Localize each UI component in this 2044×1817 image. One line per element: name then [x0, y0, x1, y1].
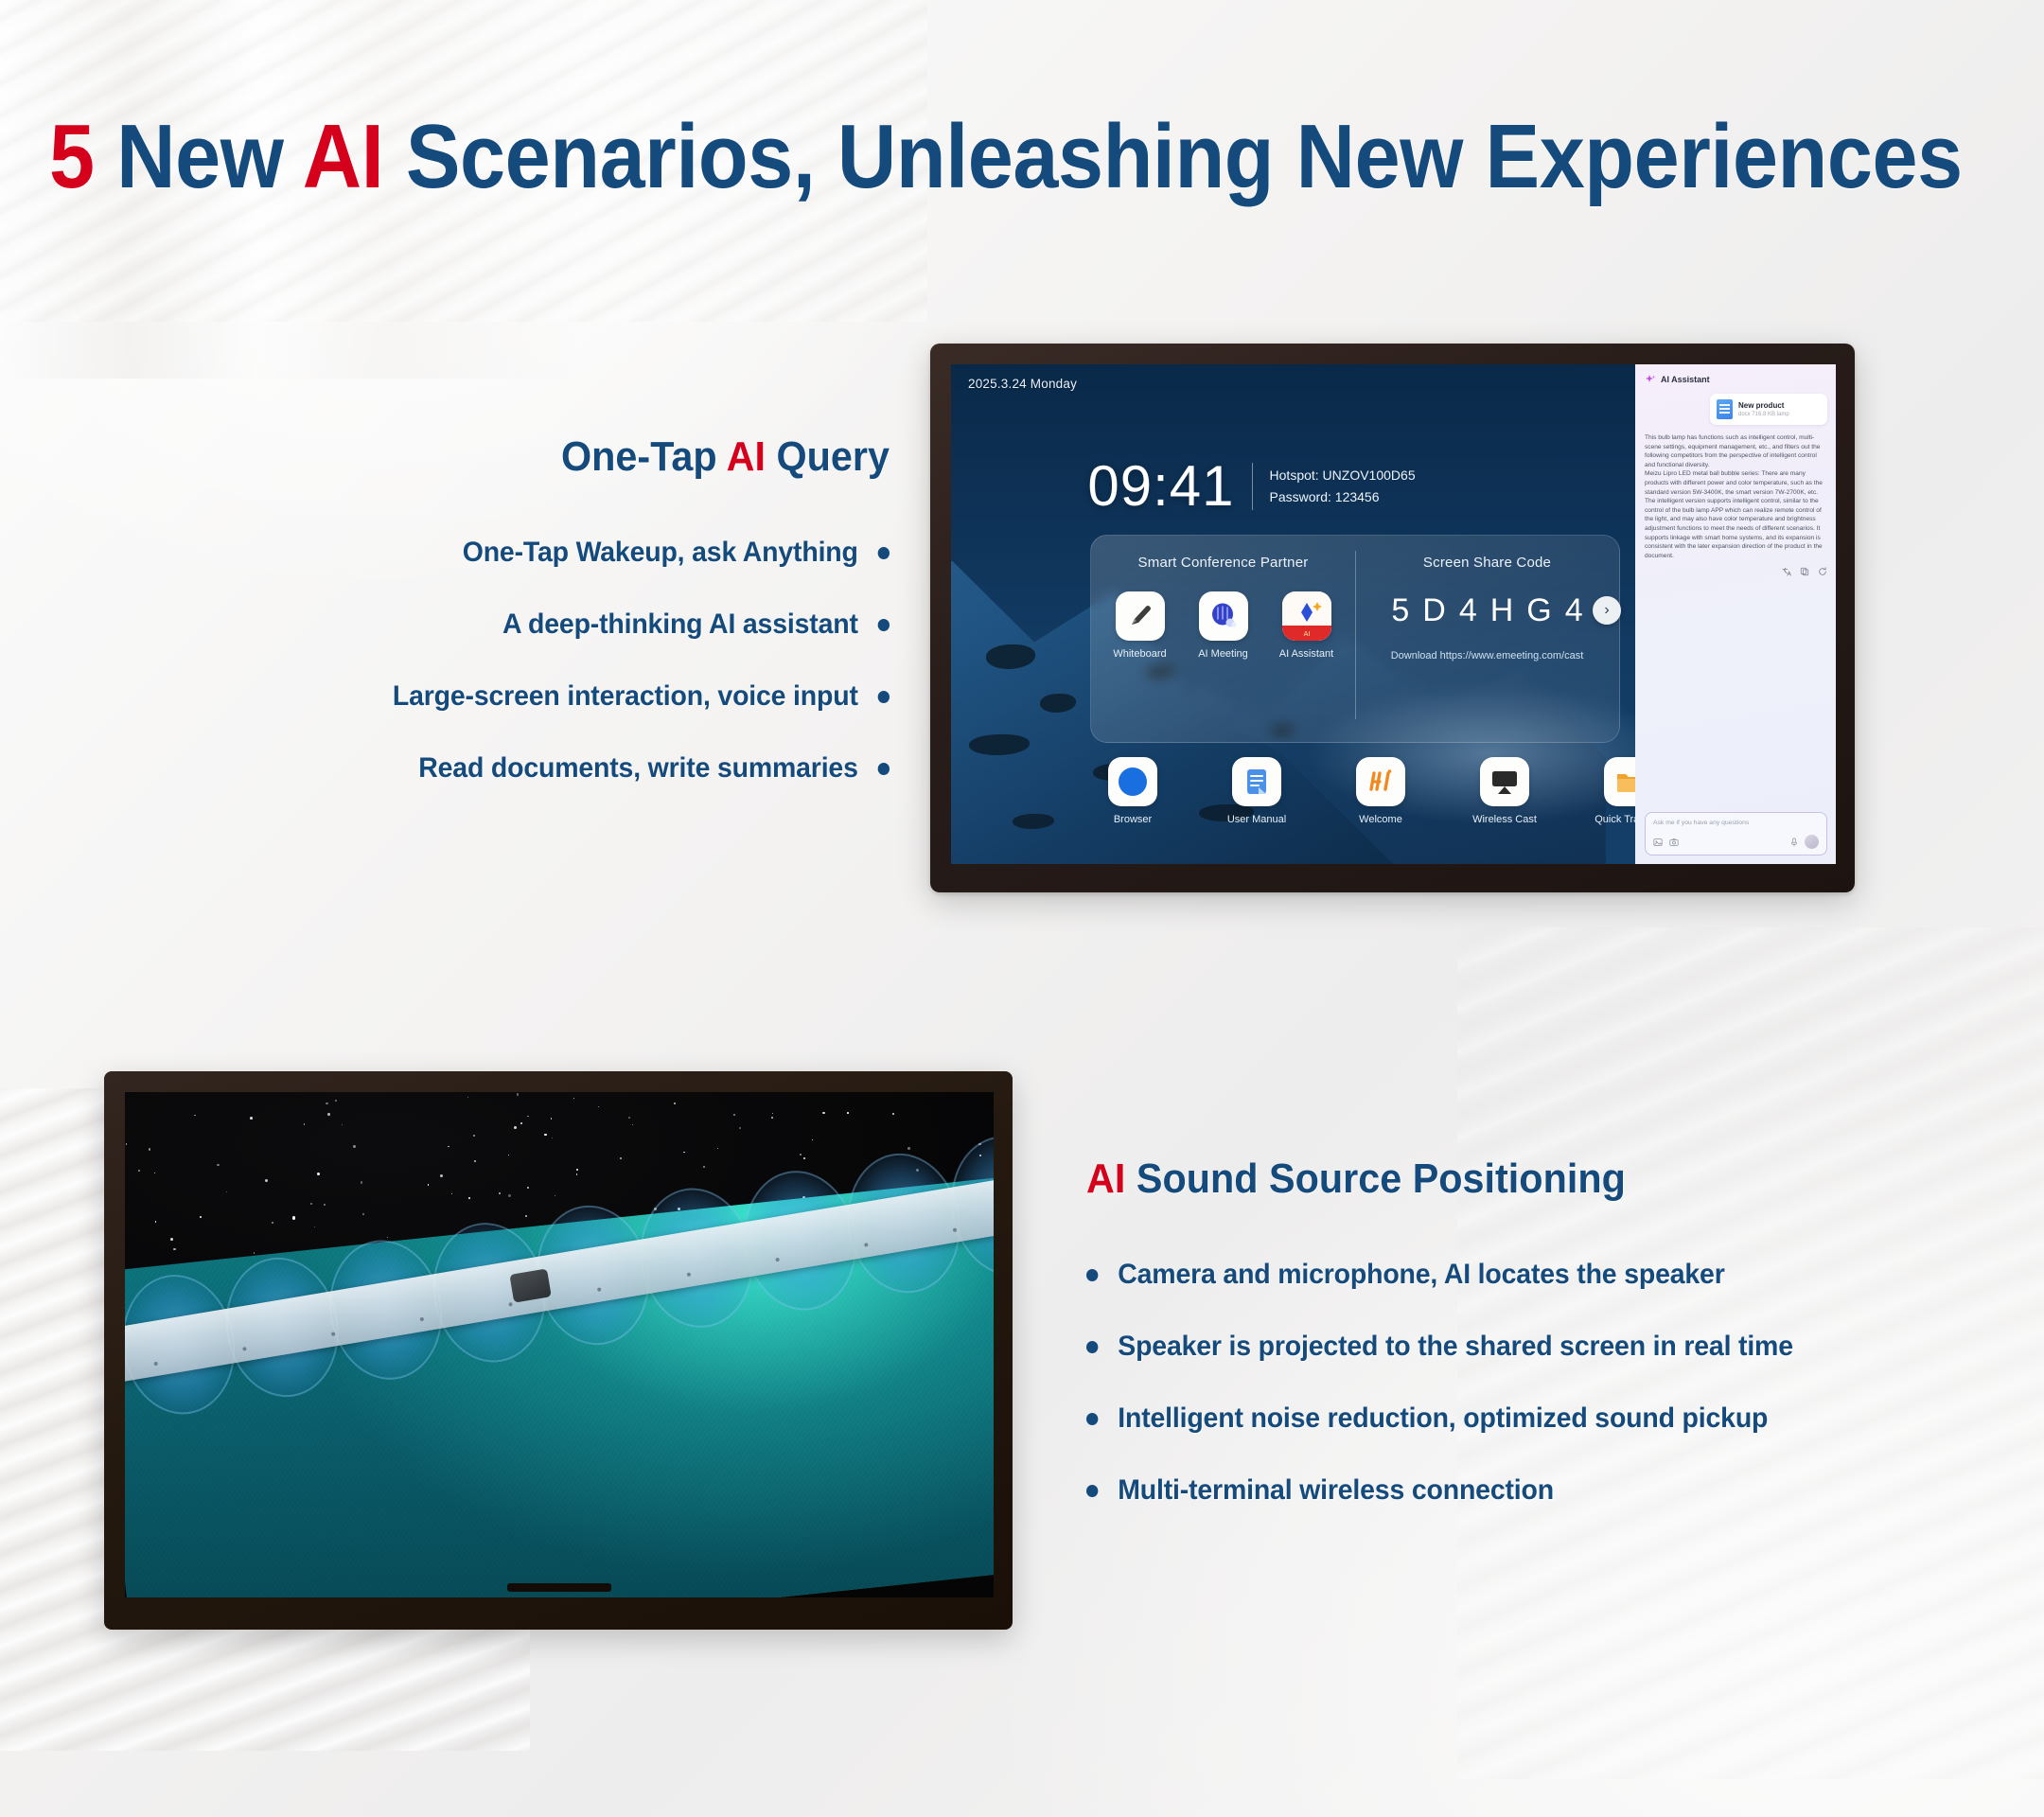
- ai-sound-source-positioning-section: AI Sound Source Positioning Camera and m…: [1086, 1153, 2023, 1546]
- ai-answer-actions: [1645, 567, 1827, 576]
- list-item: Multi-terminal wireless connection: [1086, 1474, 1977, 1507]
- ai-assistant-title: AI Assistant: [1661, 375, 1710, 384]
- star: [527, 1187, 529, 1189]
- bullet-dot-icon: [1086, 1341, 1098, 1353]
- camera-icon[interactable]: [1669, 838, 1679, 847]
- section-one-bullet-2-label: A deep-thinking AI assistant: [502, 609, 858, 641]
- app-ai-meeting[interactable]: AI Meeting: [1194, 591, 1253, 661]
- page-title: 5 New AI Scenarios, Unleashing New Exper…: [49, 102, 1804, 216]
- bullet-dot-icon: [878, 691, 890, 703]
- star: [468, 1197, 470, 1199]
- headline-part-two: New: [95, 106, 303, 207]
- refresh-icon[interactable]: [1818, 567, 1827, 576]
- ai-question-input[interactable]: Ask me if you have any questions: [1645, 812, 1827, 856]
- star: [473, 1135, 475, 1137]
- conference-app-row: Whiteboard AI Meeting: [1101, 591, 1346, 661]
- section-one-heading-suffix: Query: [766, 433, 890, 480]
- list-item: Camera and microphone, AI locates the sp…: [1086, 1259, 1977, 1291]
- section-two-bullet-3-label: Intelligent noise reduction, optimized s…: [1118, 1402, 1768, 1435]
- display-stand-foot: [507, 1583, 611, 1592]
- star: [292, 1216, 295, 1219]
- interactive-display-bottom: [104, 1071, 1013, 1630]
- conference-partner-title: Smart Conference Partner: [1101, 555, 1346, 571]
- section-two-bullet-1-label: Camera and microphone, AI locates the sp…: [1118, 1259, 1724, 1291]
- list-item: A deep-thinking AI assistant: [180, 609, 890, 641]
- star: [544, 1134, 546, 1136]
- share-code-char: D: [1422, 591, 1446, 629]
- share-code-char: 4: [1565, 591, 1583, 629]
- star: [272, 1222, 273, 1224]
- share-code-char: 4: [1459, 591, 1477, 629]
- star: [703, 1166, 705, 1168]
- list-item: Read documents, write summaries: [180, 752, 890, 785]
- ai-input-attachments: [1653, 838, 1679, 847]
- document-subtitle: docx 716.8 KB lamp: [1738, 411, 1789, 419]
- section-two-bullet-4-label: Multi-terminal wireless connection: [1118, 1474, 1554, 1507]
- section-one-heading: One-Tap AI Query: [186, 431, 890, 484]
- conference-partner-column: Smart Conference Partner Whiteboard AI M…: [1091, 536, 1355, 742]
- svg-text:AI: AI: [1303, 630, 1310, 638]
- section-one-bullet-list: One-Tap Wakeup, ask Anything A deep-thin…: [142, 537, 890, 785]
- one-tap-ai-query-section: One-Tap AI Query One-Tap Wakeup, ask Any…: [142, 431, 890, 824]
- list-item: One-Tap Wakeup, ask Anything: [180, 537, 890, 569]
- app-ai-assistant[interactable]: AI AI Assistant: [1277, 591, 1336, 661]
- app-label: Browser: [1098, 814, 1168, 826]
- app-label: AI Assistant: [1277, 648, 1336, 661]
- star: [892, 1113, 894, 1115]
- app-wireless-cast[interactable]: Wireless Cast: [1470, 757, 1540, 826]
- hi-icon: [1356, 757, 1405, 806]
- clock-time: 09:41: [1087, 457, 1234, 516]
- star: [170, 1238, 173, 1241]
- image-icon[interactable]: [1653, 838, 1663, 847]
- send-icon[interactable]: [1805, 835, 1819, 849]
- app-label: User Manual: [1222, 814, 1292, 826]
- chevron-right-icon[interactable]: ›: [1593, 596, 1621, 625]
- star: [847, 1112, 849, 1114]
- star: [361, 1181, 363, 1184]
- star: [514, 1126, 517, 1129]
- document-icon: [1232, 757, 1281, 806]
- lockscreen-date: 2025.3.24 Monday: [968, 377, 1077, 391]
- section-two-heading-suffix: Sound Source Positioning: [1125, 1155, 1626, 1202]
- bullet-dot-icon: [1086, 1485, 1098, 1497]
- section-one-bullet-1-label: One-Tap Wakeup, ask Anything: [463, 537, 858, 569]
- star: [520, 1122, 522, 1124]
- list-item: Speaker is projected to the shared scree…: [1086, 1331, 1977, 1363]
- star: [628, 1117, 630, 1119]
- section-two-heading: AI Sound Source Positioning: [1086, 1153, 1967, 1206]
- ai-assistant-panel: AI Assistant New product docx 716.8 KB l…: [1635, 364, 1836, 864]
- star: [327, 1113, 329, 1115]
- star: [499, 1192, 501, 1194]
- bullet-dot-icon: [878, 547, 890, 559]
- headline-number: 5: [49, 106, 95, 207]
- share-code-char: G: [1526, 591, 1551, 629]
- airplay-icon: [1480, 757, 1529, 806]
- microphone-icon[interactable]: [1789, 838, 1799, 847]
- screen-share-title: Screen Share Code: [1365, 555, 1610, 571]
- ai-answer-text: This bulb lamp has functions such as int…: [1645, 433, 1827, 560]
- section-one-heading-ai: AI: [727, 433, 766, 480]
- app-user-manual[interactable]: User Manual: [1222, 757, 1292, 826]
- star: [551, 1118, 552, 1119]
- hotspot-label: Hotspot: UNZOV100D65: [1270, 465, 1416, 486]
- share-code-char: H: [1490, 591, 1514, 629]
- app-label: Whiteboard: [1111, 648, 1170, 661]
- ai-panel-spacer: [1645, 576, 1827, 812]
- sparkle-icon: [1645, 374, 1656, 385]
- app-label: Welcome: [1346, 814, 1416, 826]
- star: [440, 1174, 443, 1177]
- app-label: AI Meeting: [1194, 648, 1253, 661]
- star: [217, 1164, 220, 1167]
- ai-input-toolbar: [1653, 835, 1819, 849]
- star: [335, 1100, 337, 1102]
- star: [451, 1193, 452, 1194]
- star: [326, 1103, 327, 1104]
- download-link-label[interactable]: Download https://www.emeeting.com/cast: [1365, 650, 1610, 662]
- ai-assistant-header: AI Assistant: [1645, 374, 1827, 385]
- screen-share-column: Screen Share Code 5 D 4 H G 4 › Download…: [1355, 536, 1619, 742]
- star: [508, 1194, 511, 1197]
- bullet-dot-icon: [1086, 1269, 1098, 1281]
- compass-icon: [1108, 757, 1157, 806]
- app-browser[interactable]: Browser: [1098, 757, 1168, 826]
- star: [317, 1173, 320, 1175]
- interactive-display-top: 2025.3.24 Monday 09:41 Hotspot: UNZOV100…: [930, 344, 1855, 892]
- star: [362, 1213, 364, 1215]
- file-icon: [1717, 399, 1733, 419]
- pen-icon: [1116, 591, 1165, 641]
- section-two-bullet-list: Camera and microphone, AI locates the sp…: [1086, 1259, 2023, 1507]
- section-one-bullet-3-label: Large-screen interaction, voice input: [393, 680, 858, 713]
- star: [632, 1124, 633, 1125]
- bullet-dot-icon: [878, 763, 890, 775]
- attached-document-card[interactable]: New product docx 716.8 KB lamp: [1710, 394, 1827, 425]
- copy-icon[interactable]: [1800, 567, 1809, 576]
- star: [200, 1216, 202, 1218]
- bullet-dot-icon: [878, 619, 890, 631]
- section-one-heading-prefix: One-Tap: [561, 433, 727, 480]
- headline-ai: AI: [303, 106, 384, 207]
- section-one-bullet-4-label: Read documents, write summaries: [418, 752, 858, 785]
- star: [467, 1097, 468, 1098]
- ai-input-send-group: [1789, 835, 1819, 849]
- display-two-screen: [125, 1092, 994, 1597]
- ai-diamond-icon: AI: [1282, 591, 1331, 641]
- list-item: Large-screen interaction, voice input: [180, 680, 890, 713]
- star: [576, 1173, 577, 1174]
- section-two-bullet-2-label: Speaker is projected to the shared scree…: [1118, 1331, 1793, 1363]
- app-label: Wireless Cast: [1470, 814, 1540, 826]
- network-info: Hotspot: UNZOV100D65 Password: 123456: [1270, 465, 1416, 508]
- screen-share-code: 5 D 4 H G 4 ›: [1365, 591, 1610, 629]
- section-two-heading-ai: AI: [1086, 1155, 1125, 1202]
- list-item: Intelligent noise reduction, optimized s…: [1086, 1402, 1977, 1435]
- document-title: New product: [1738, 400, 1789, 411]
- camera-icon: [510, 1268, 552, 1302]
- app-whiteboard[interactable]: Whiteboard: [1111, 591, 1170, 661]
- ai-input-placeholder: Ask me if you have any questions: [1653, 820, 1819, 826]
- meeting-brain-icon: [1199, 591, 1248, 641]
- display-one-screen: 2025.3.24 Monday 09:41 Hotspot: UNZOV100…: [951, 364, 1836, 864]
- bullet-dot-icon: [1086, 1413, 1098, 1425]
- smart-conference-card: Smart Conference Partner Whiteboard AI M…: [1090, 535, 1620, 743]
- share-code-char: 5: [1391, 591, 1409, 629]
- clock-divider: [1252, 463, 1253, 510]
- headline-part-four: Scenarios, Unleashing New Experiences: [383, 106, 1962, 207]
- star: [771, 1117, 772, 1118]
- document-text: New product docx 716.8 KB lamp: [1738, 400, 1789, 419]
- password-label: Password: 123456: [1270, 486, 1416, 508]
- app-welcome[interactable]: Welcome: [1346, 757, 1416, 826]
- translate-icon[interactable]: [1782, 567, 1791, 576]
